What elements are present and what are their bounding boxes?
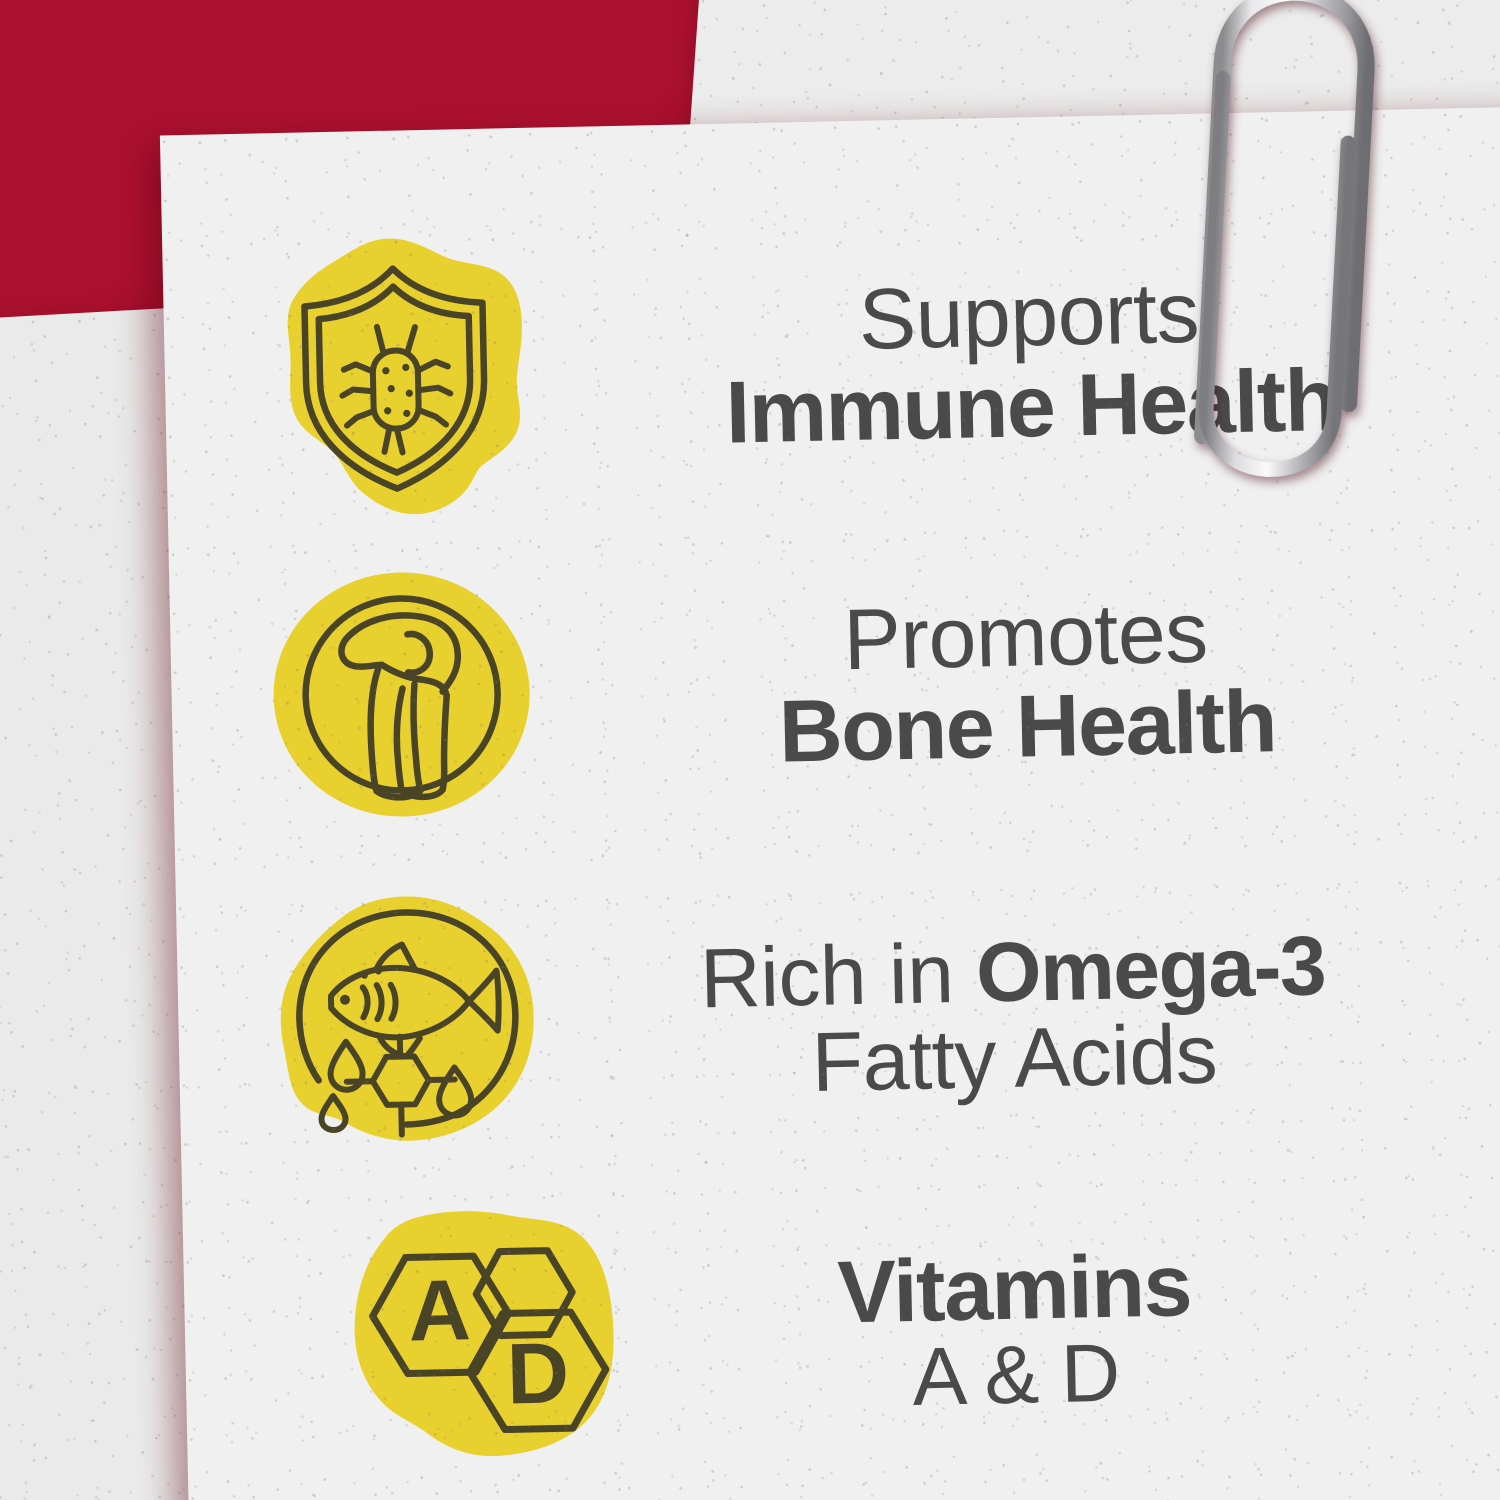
infographic-canvas: Supports Immune Health xyxy=(0,0,1500,1500)
benefit-line-1: Rich in Omega-3 xyxy=(662,922,1364,1022)
benefit-line-1: Vitamins xyxy=(753,1238,1275,1339)
benefit-item-omega: Rich in Omega-3 Fatty Acids xyxy=(271,870,1367,1168)
benefit-text-omega: Rich in Omega-3 Fatty Acids xyxy=(662,922,1365,1108)
benefit-item-vitamins: A D Vitamins A & D xyxy=(322,1187,1278,1482)
bone-joint-icon xyxy=(264,558,540,834)
benefit-line-2: A & D xyxy=(755,1328,1277,1422)
benefit-text-immune: Supports Immune Health xyxy=(723,267,1337,457)
front-paper-sheet: Supports Immune Health xyxy=(160,105,1500,1500)
benefit-item-immune: Supports Immune Health xyxy=(257,211,1338,523)
fish-omega-icon xyxy=(271,888,547,1169)
shield-bug-icon xyxy=(257,228,533,524)
benefit-item-bone: Promotes Bone Health xyxy=(264,541,1334,833)
hex-letter-a: A xyxy=(407,1262,471,1359)
benefit-line-1-emphasis: Omega-3 xyxy=(975,918,1326,1019)
benefit-line-2: Bone Health xyxy=(722,675,1334,778)
hex-letter-d: D xyxy=(506,1325,570,1422)
benefit-line-2: Immune Health xyxy=(725,355,1337,458)
benefit-text-vitamins: Vitamins A & D xyxy=(753,1238,1277,1422)
benefit-text-bone: Promotes Bone Health xyxy=(720,587,1334,777)
benefits-list: Supports Immune Health xyxy=(160,105,1500,1500)
hexagon-a-d-icon: A D xyxy=(322,1201,628,1482)
benefit-line-1-prefix: Rich in xyxy=(699,925,977,1025)
